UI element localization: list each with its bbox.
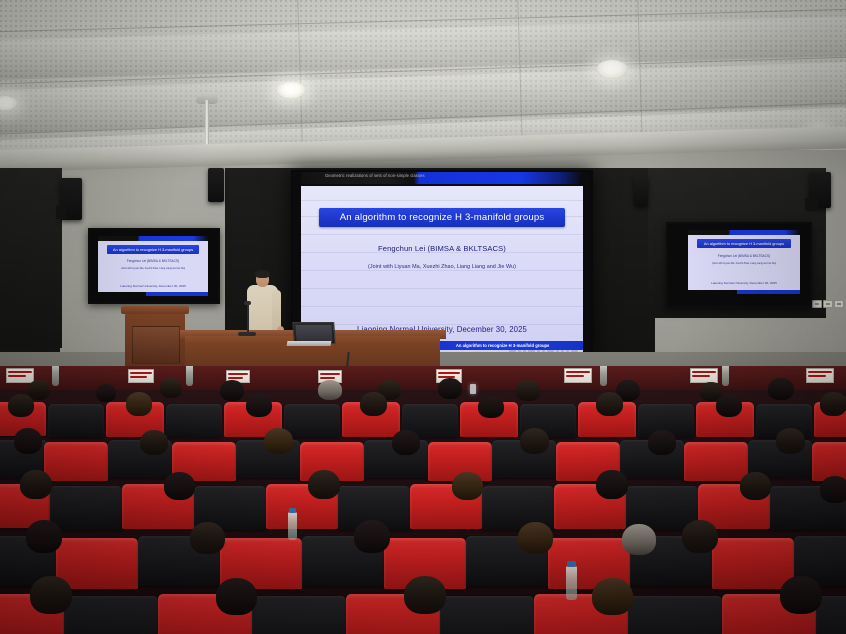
downlight-icon — [596, 60, 628, 79]
attendee-head — [264, 428, 293, 454]
attendee-head — [780, 576, 822, 614]
attendee-head — [682, 520, 718, 553]
attendee-head — [126, 392, 152, 416]
attendee-head — [768, 378, 794, 400]
slide-footer-title: An algorithm to recognize H 3-manifold g… — [422, 341, 583, 350]
left-monitor-author: Fengchun Lei (BIMSA & BKLTSACS) — [98, 259, 208, 263]
right-monitor-coauthors: (Joint with Liyuan Ma, Xuezhi Zhao, Lian… — [688, 262, 800, 265]
speaker-bracket — [805, 198, 818, 211]
speaker-icon — [634, 176, 648, 206]
attendee-head — [28, 380, 50, 400]
nameplate-icon — [128, 369, 154, 383]
podium-top — [121, 306, 189, 314]
attendee-head — [8, 394, 34, 417]
right-monitor-screen: An algorithm to recognize H 3-manifold g… — [688, 230, 800, 294]
left-monitor-coauthors: (Joint with Liyuan Ma, Xuezhi Zhao, Lian… — [98, 267, 208, 270]
attendee-head — [438, 378, 462, 399]
bottle-icon — [186, 366, 193, 386]
right-monitor-title: An algorithm to recognize H 3-manifold g… — [704, 241, 784, 246]
podium-panel — [132, 326, 180, 364]
phone-icon[interactable] — [470, 384, 476, 394]
outlet-icon[interactable] — [823, 300, 833, 308]
attendee-head — [716, 394, 742, 417]
attendee-head — [318, 380, 342, 400]
attendee-head — [596, 470, 628, 499]
presentation-window-titlebar: Geometric realizations of sets of non-si… — [301, 172, 583, 184]
bottle-icon — [566, 566, 577, 600]
left-monitor-screen: An algorithm to recognize H 3-manifold g… — [98, 236, 208, 296]
attendee-head — [648, 430, 676, 455]
seat[interactable] — [64, 596, 158, 634]
attendee-head — [30, 576, 72, 614]
attendee-head — [820, 392, 846, 416]
bottle-icon — [600, 366, 607, 386]
left-monitor-titlebar — [98, 236, 208, 241]
left-monitor-title: An algorithm to recognize H 3-manifold g… — [113, 247, 193, 252]
attendee-head — [820, 476, 846, 503]
attendee-head — [360, 392, 387, 416]
nameplate-icon — [564, 368, 592, 383]
audience-seating — [0, 366, 846, 634]
seat[interactable] — [812, 442, 846, 481]
attendee-head — [354, 520, 390, 553]
speaker-bracket — [56, 205, 66, 219]
attendee-head — [478, 396, 504, 418]
microphone-head — [244, 301, 251, 305]
attendee-head — [596, 392, 623, 416]
slide-author: Fengchun Lei (BIMSA & BKLTSACS) — [301, 244, 583, 253]
laptop-screen — [295, 325, 332, 341]
left-monitor-footer — [98, 292, 208, 296]
attendee-head — [776, 428, 805, 454]
attendee-head — [140, 430, 168, 455]
bottle-cap — [289, 508, 296, 513]
right-monitor-titlebar — [688, 230, 800, 235]
right-monitor-title-banner: An algorithm to recognize H 3-manifold g… — [697, 239, 791, 248]
left-monitor-venue: Liaoning Normal University, December 30,… — [98, 284, 208, 288]
wall-recess-left — [0, 168, 62, 348]
seat[interactable] — [56, 538, 138, 589]
attendee-head — [392, 430, 420, 455]
slide-title-banner: An algorithm to recognize H 3-manifold g… — [319, 208, 565, 227]
attendee-head — [220, 380, 244, 401]
seat[interactable] — [712, 538, 794, 589]
bottle-icon — [52, 366, 59, 386]
left-monitor-title-banner: An algorithm to recognize H 3-manifold g… — [107, 245, 199, 254]
attendee-head — [452, 472, 483, 500]
attendee-head — [96, 384, 116, 402]
seat[interactable] — [684, 442, 748, 481]
right-monitor: An algorithm to recognize H 3-manifold g… — [666, 222, 812, 308]
podium — [125, 312, 185, 374]
bottle-cap — [567, 561, 576, 567]
slide-coauthors: (Joint with Liyuan Ma, Xuezhi Zhao, Lian… — [301, 264, 583, 270]
outlet-icon[interactable] — [834, 300, 844, 308]
right-monitor-footer — [688, 290, 800, 294]
attendee-head — [740, 472, 771, 500]
bottle-icon — [722, 366, 729, 386]
attendee-head — [164, 472, 195, 500]
attendee-head — [404, 576, 446, 614]
nameplate-icon — [806, 368, 834, 383]
attendee-head — [308, 470, 340, 499]
attendee-head — [516, 380, 540, 401]
attendee-head — [190, 522, 225, 554]
seat[interactable] — [166, 404, 222, 438]
seat[interactable] — [440, 596, 534, 634]
laptop-keyboard[interactable] — [287, 341, 332, 346]
right-monitor-venue: Liaoning Normal University, December 30,… — [688, 281, 800, 285]
attendee-head — [160, 378, 182, 398]
seat[interactable] — [44, 442, 108, 481]
left-monitor: An algorithm to recognize H 3-manifold g… — [88, 228, 220, 304]
attendee-head — [14, 428, 42, 454]
downlight-icon — [276, 82, 306, 99]
nameplate-icon — [6, 368, 34, 383]
attendee-head — [246, 394, 272, 417]
attendee-head — [26, 520, 62, 553]
right-monitor-author: Fengchun Lei (BIMSA & BKLTSACS) — [688, 254, 800, 258]
attendee-head — [592, 578, 633, 615]
attendee-head — [20, 470, 52, 499]
outlet-icon[interactable] — [812, 300, 822, 308]
attendee-head — [216, 578, 257, 615]
presenter-hair — [255, 270, 270, 278]
attendee-head — [520, 428, 549, 454]
seat[interactable] — [284, 404, 340, 438]
seat[interactable] — [48, 404, 104, 438]
window-title: Geometric realizations of sets of non-si… — [325, 173, 425, 178]
lecture-hall-photo: An algorithm to recognize H 3-manifold g… — [0, 0, 846, 634]
bottle-icon — [288, 512, 297, 540]
seat[interactable] — [628, 596, 722, 634]
microphone-base — [238, 332, 256, 336]
seat[interactable] — [252, 596, 346, 634]
speaker-icon — [208, 168, 224, 202]
seat[interactable] — [50, 486, 122, 530]
nameplate-icon — [690, 368, 718, 383]
attendee-head — [518, 522, 553, 554]
microphone-icon — [247, 304, 249, 334]
attendee-head — [622, 524, 656, 555]
slide-title: An algorithm to recognize H 3-manifold g… — [340, 212, 545, 223]
